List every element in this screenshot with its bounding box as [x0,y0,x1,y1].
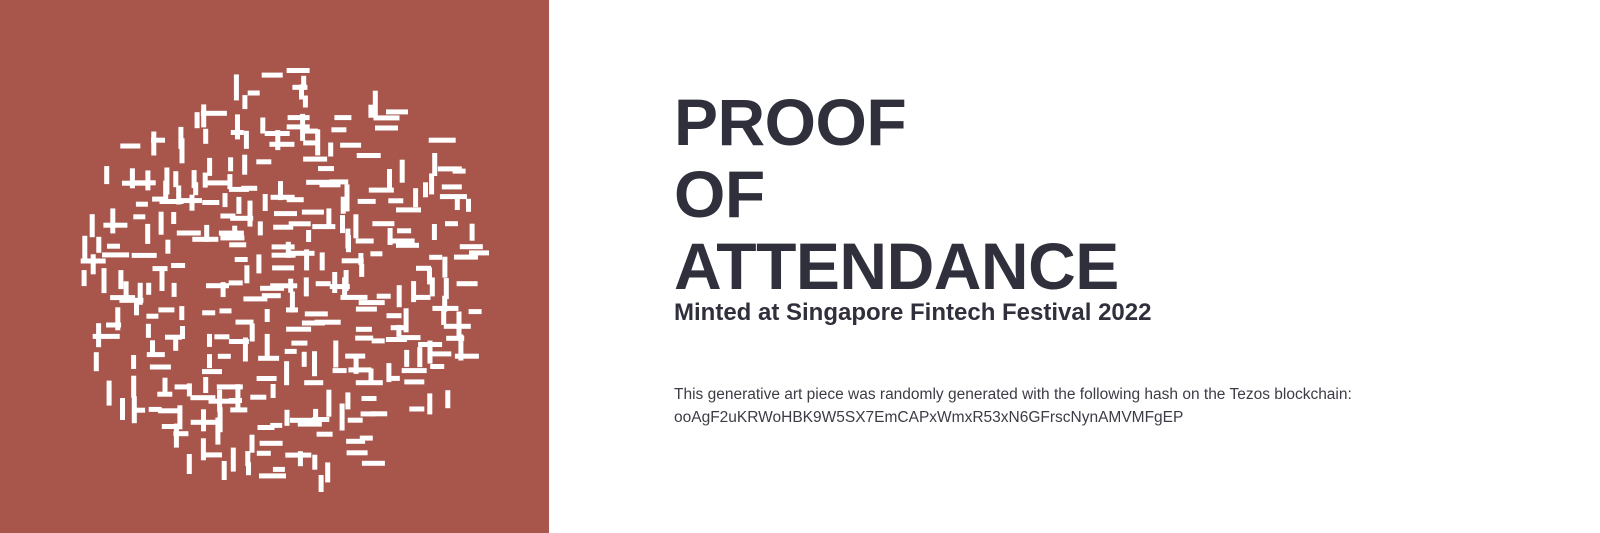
certificate-content-panel: PROOF OF ATTENDANCE Minted at Singapore … [549,0,1600,533]
headline-line-1: PROOF [674,86,1574,158]
headline-line-3: ATTENDANCE [674,230,1574,302]
generative-art-panel [0,0,549,533]
generative-art-canvas [0,0,549,533]
generative-art-marks [81,68,489,492]
headline-line-2: OF [674,158,1574,230]
transaction-hash-text: ooAgF2uKRWoHBK9W5SX7EmCAPxWmxR53xN6GFrsc… [674,406,1574,429]
certificate-subtitle: Minted at Singapore Fintech Festival 202… [674,298,1151,328]
proof-of-attendance-certificate: PROOF OF ATTENDANCE Minted at Singapore … [0,0,1600,533]
description-intro-text: This generative art piece was randomly g… [674,383,1574,406]
certificate-description: This generative art piece was randomly g… [674,383,1574,429]
page-title: PROOF OF ATTENDANCE [674,86,1574,302]
